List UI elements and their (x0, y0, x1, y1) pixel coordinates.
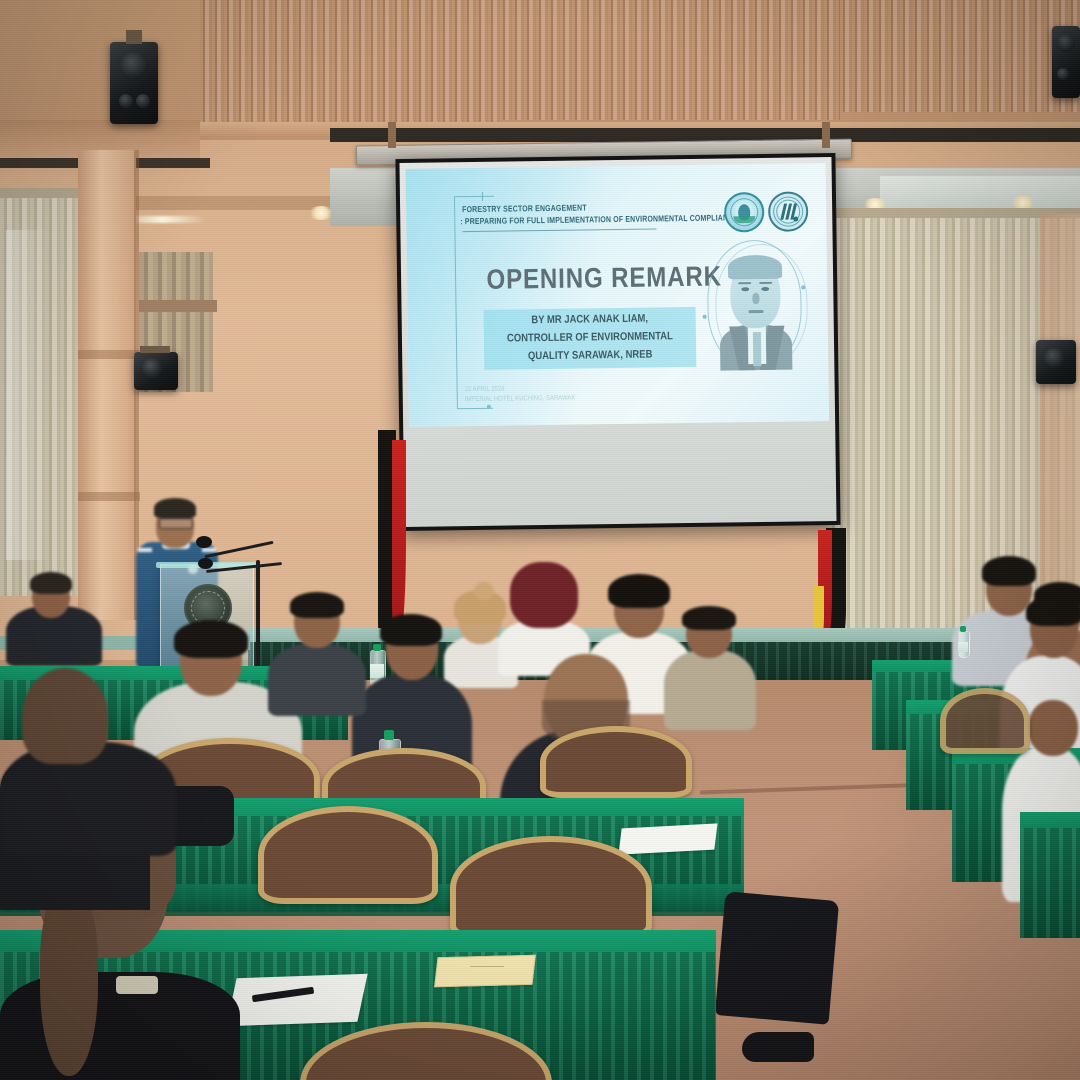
projector-screen-surface: FORESTRY SECTOR ENGAGEMENT : PREPARING F… (399, 157, 836, 527)
flag-left (378, 430, 410, 640)
curtain-light-wash (6, 230, 50, 560)
wall-speaker-right (1052, 26, 1080, 98)
projector-screen-frame: FORESTRY SECTOR ENGAGEMENT : PREPARING F… (395, 153, 840, 531)
attendee-dark-polo-left (268, 592, 366, 712)
slat-wall-right (840, 0, 1080, 112)
microphone-head-1 (196, 536, 212, 548)
slide-footer-line-1: 22 APRIL 2024 (465, 386, 505, 394)
slide-tick-top (482, 192, 483, 201)
slide-subtitle-line-3: QUALITY SARAWAK, NREB (499, 348, 681, 363)
slide-subtitle-line-1: BY MR JACK ANAK LIAM, (498, 312, 680, 327)
backpack-on-floor (715, 891, 839, 1024)
presentation-slide: FORESTRY SECTOR ENGAGEMENT : PREPARING F… (406, 163, 830, 427)
curtain-rail-left (0, 188, 82, 198)
wall-speaker-left (110, 42, 158, 124)
speaker-bracket-left (126, 30, 142, 44)
shoe-on-floor (742, 1032, 814, 1062)
paper-sheet-row4 (618, 823, 717, 854)
water-bottle-r1 (958, 626, 968, 656)
foreground-collar (116, 976, 158, 994)
speaker-portrait (703, 237, 811, 370)
state-logo-dot (793, 216, 798, 221)
chair-row3-c (540, 726, 692, 798)
paper-sheet-foreground (226, 974, 367, 1027)
slat-wall-left (200, 0, 500, 130)
notepad-foreground (434, 955, 536, 988)
table-row5-right-skirt (1020, 828, 1080, 938)
chair-right-far (940, 688, 1030, 754)
slide-title: OPENING REMARK (486, 261, 700, 296)
downlight-1 (308, 206, 334, 220)
screen-mount-right (822, 122, 830, 148)
slide-dot-bottom (487, 405, 491, 409)
chair-row4-b (450, 836, 652, 940)
slide-subtitle-line-2: CONTROLLER OF ENVIRONMENTAL (499, 330, 681, 345)
attendee-far-left-stage (6, 572, 102, 662)
notepad-ruled-line (470, 966, 504, 967)
pilaster-left-band-1 (78, 350, 140, 359)
speaker-bracket-left-col (140, 346, 170, 353)
slat-wall-center (500, 0, 840, 120)
slide-header-line-1: FORESTRY SECTOR ENGAGEMENT (462, 202, 587, 214)
wall-speaker-right-column (1036, 340, 1076, 384)
attendee-khaki-right (664, 606, 756, 724)
screen-mount-left (388, 122, 396, 148)
conference-hall-photo: FORESTRY SECTOR ENGAGEMENT : PREPARING F… (0, 0, 1080, 1080)
microphone-head-2 (198, 558, 213, 569)
wall-speaker-left-column (134, 352, 178, 390)
chair-row4-a (258, 806, 438, 904)
attendee-left-black-top (0, 668, 176, 848)
window-shelf-left (139, 300, 217, 312)
